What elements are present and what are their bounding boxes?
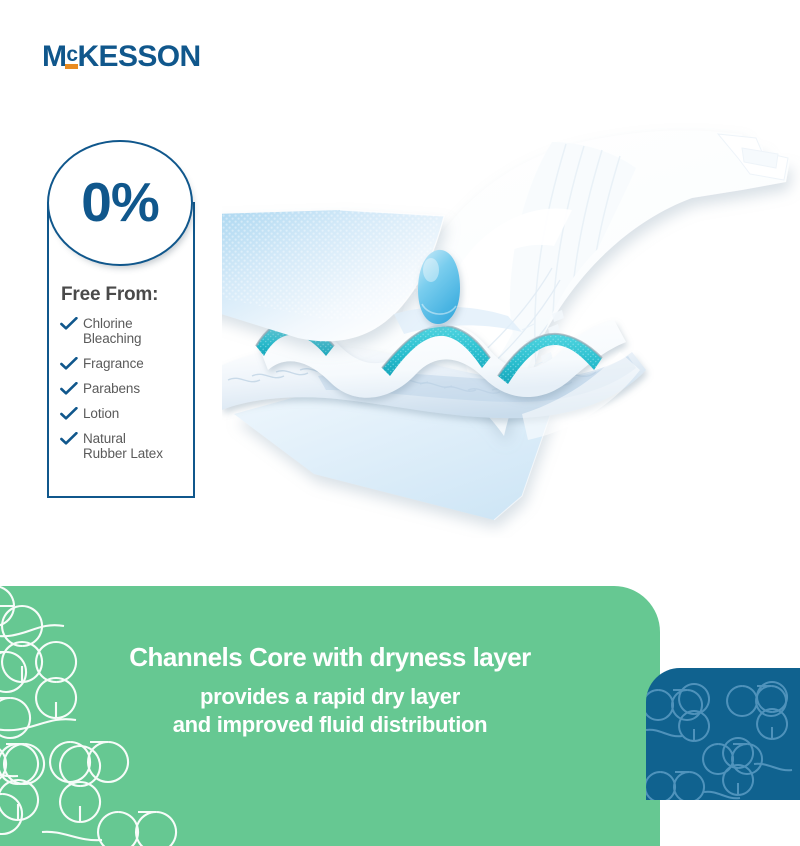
list-item: Fragrance (60, 356, 188, 371)
list-item: Natural Rubber Latex (60, 431, 188, 461)
corner-accent-block (646, 668, 800, 800)
check-icon (60, 317, 78, 331)
incontinence-brief-cutaway-illustration (222, 118, 800, 538)
free-from-list: Chlorine Bleaching Fragrance Parabens Lo… (60, 316, 188, 471)
banner-text-block: Channels Core with dryness layer provide… (0, 586, 660, 800)
molecule-pattern (646, 668, 800, 800)
banner-headline: Channels Core with dryness layer (0, 642, 660, 672)
check-icon (60, 357, 78, 371)
feature-banner: Channels Core with dryness layer provide… (0, 586, 660, 846)
list-item: Lotion (60, 406, 188, 421)
list-item-label: Fragrance (83, 356, 144, 371)
free-from-panel: 0% Free From: Chlorine Bleaching Fragran… (47, 140, 195, 498)
zero-percent-value: 0% (81, 175, 159, 230)
product-marketing-image: McKESSON 0% Free From: Chlorine Bleachin… (0, 0, 800, 800)
logo-letter-c: c (66, 44, 77, 65)
list-item: Chlorine Bleaching (60, 316, 188, 346)
banner-subline: provides a rapid dry layer and improved … (0, 683, 660, 739)
list-item-label: Chlorine Bleaching (83, 316, 141, 346)
check-icon (60, 432, 78, 446)
list-item-label: Parabens (83, 381, 140, 396)
list-item: Parabens (60, 381, 188, 396)
check-icon (60, 382, 78, 396)
list-item-label: Natural Rubber Latex (83, 431, 163, 461)
logo-letter-m: M (42, 40, 66, 73)
logo-accent-underline (65, 64, 78, 69)
logo-letters-kesson: KESSON (77, 40, 200, 73)
zero-percent-badge: 0% (47, 140, 193, 266)
check-icon (60, 407, 78, 421)
list-item-label: Lotion (83, 406, 119, 421)
free-from-title: Free From: (61, 284, 158, 306)
mckesson-logo: McKESSON (42, 38, 201, 72)
logo-wordmark: McKESSON (42, 42, 201, 72)
